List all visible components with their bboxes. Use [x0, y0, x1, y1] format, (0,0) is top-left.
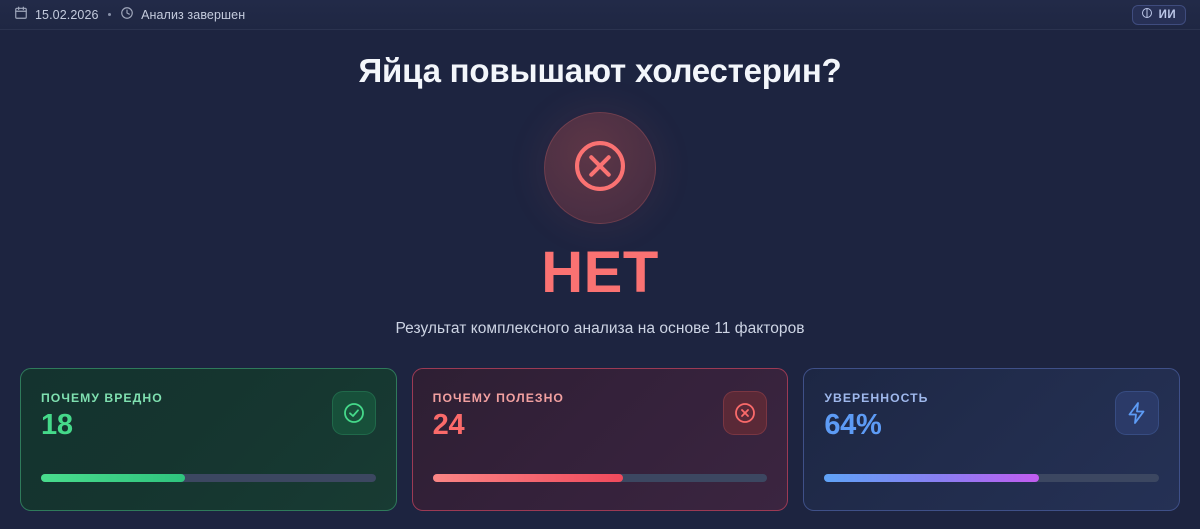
calendar-icon: [14, 6, 28, 23]
card-text-block: ПОЧЕМУ ПОЛЕЗНО 24: [433, 391, 564, 440]
verdict-word: НЕТ: [541, 244, 659, 302]
metric-card-confidence[interactable]: УВЕРЕННОСТЬ 64%: [803, 368, 1180, 511]
analysis-date: 15.02.2026: [35, 8, 99, 22]
metric-card-why-harmful[interactable]: ПОЧЕМУ ВРЕДНО 18: [20, 368, 397, 511]
card-text-block: ПОЧЕМУ ВРЕДНО 18: [41, 391, 163, 440]
card-label: ПОЧЕМУ ПОЛЕЗНО: [433, 391, 564, 405]
card-value: 64%: [824, 410, 928, 440]
progress-track: [433, 474, 768, 482]
card-value: 24: [433, 410, 564, 440]
card-header: ПОЧЕМУ ПОЛЕЗНО 24: [433, 391, 768, 440]
metric-cards: ПОЧЕМУ ВРЕДНО 18 ПОЧЕМУ ПОЛЕЗНО 24: [20, 368, 1180, 511]
analysis-status: Анализ завершен: [141, 8, 245, 22]
verdict-subtitle: Результат комплексного анализа на основе…: [395, 320, 804, 338]
progress-track: [824, 474, 1159, 482]
card-text-block: УВЕРЕННОСТЬ 64%: [824, 391, 928, 440]
ai-badge[interactable]: ИИ: [1132, 5, 1186, 25]
date-meta: 15.02.2026: [14, 6, 99, 23]
contrast-circle-icon: [1141, 7, 1153, 22]
page-title: Яйца повышают холестерин?: [358, 52, 841, 90]
card-label: УВЕРЕННОСТЬ: [824, 391, 928, 405]
clock-icon: [120, 6, 134, 23]
progress-fill: [433, 474, 624, 482]
progress-fill: [41, 474, 185, 482]
card-value: 18: [41, 410, 163, 440]
x-circle-icon: [571, 137, 629, 200]
card-label: ПОЧЕМУ ВРЕДНО: [41, 391, 163, 405]
lightning-bolt-icon: [1115, 391, 1159, 435]
metric-card-why-useful[interactable]: ПОЧЕМУ ПОЛЕЗНО 24: [412, 368, 789, 511]
card-header: УВЕРЕННОСТЬ 64%: [824, 391, 1159, 440]
x-circle-icon: [723, 391, 767, 435]
ai-badge-label: ИИ: [1159, 9, 1176, 21]
progress-fill: [824, 474, 1038, 482]
check-circle-icon: [332, 391, 376, 435]
status-meta: Анализ завершен: [120, 6, 245, 23]
progress-track: [41, 474, 376, 482]
meta-separator-dot: [108, 13, 112, 17]
card-header: ПОЧЕМУ ВРЕДНО 18: [41, 391, 376, 440]
verdict-orb: [544, 112, 656, 224]
top-meta-bar: 15.02.2026 Анализ завершен ИИ: [0, 0, 1200, 30]
verdict-hero: Яйца повышают холестерин? НЕТ Результат …: [0, 30, 1200, 360]
